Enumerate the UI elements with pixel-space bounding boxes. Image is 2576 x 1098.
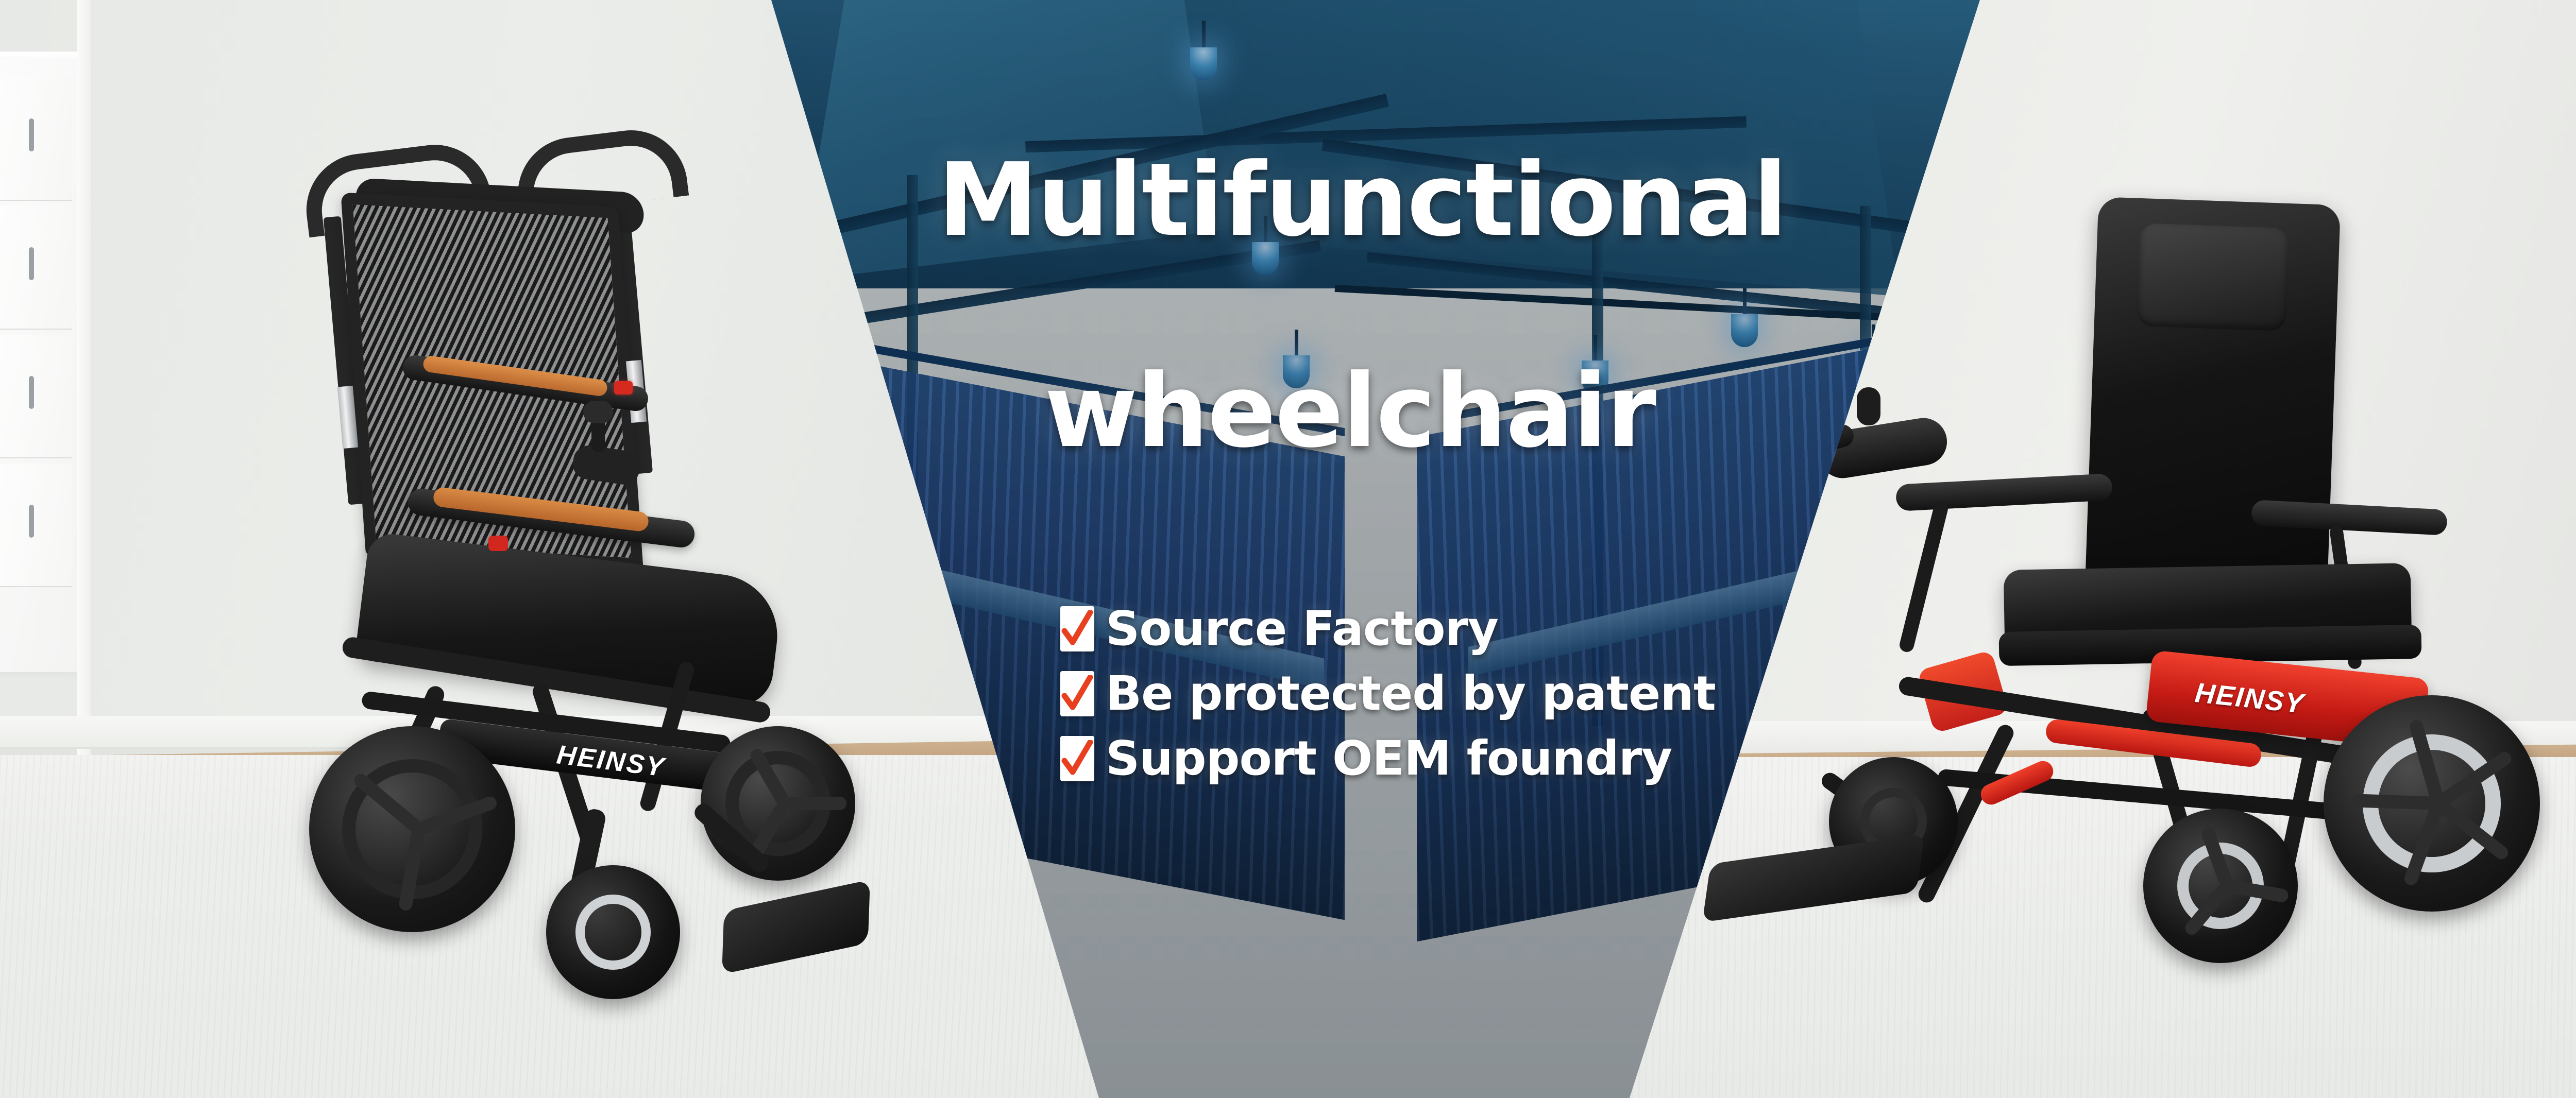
control-joystick bbox=[577, 412, 623, 474]
headline-block: Multifunctional wheelchair Source Factor… bbox=[938, 0, 1762, 1098]
drawer-handle bbox=[29, 376, 34, 409]
wheel-spoke bbox=[785, 797, 846, 810]
feature-item: Be protected by patent bbox=[1060, 670, 1745, 717]
footrest-plate bbox=[722, 880, 870, 974]
cabinet-drawer bbox=[0, 335, 72, 458]
mid-wheel bbox=[701, 726, 855, 881]
check-box-icon bbox=[1060, 736, 1094, 781]
product-banner: HEINSY bbox=[0, 0, 2576, 1098]
cabinet-edge bbox=[77, 0, 91, 762]
feature-list: Source Factory Be protected by patent bbox=[1060, 605, 1745, 800]
headrest-pad bbox=[2137, 223, 2290, 331]
wheel-hub-ring bbox=[575, 895, 651, 970]
drawer-handle bbox=[29, 247, 34, 280]
feature-item: Source Factory bbox=[1060, 605, 1745, 653]
check-box-icon bbox=[1060, 671, 1094, 716]
armrest-post-left bbox=[1898, 500, 1950, 654]
drawer-handle bbox=[29, 505, 34, 538]
red-lock-button bbox=[488, 536, 508, 551]
cabinet-drawer bbox=[0, 206, 72, 330]
joystick-knob bbox=[583, 401, 613, 423]
manual-wheelchair-left: HEINSY bbox=[268, 144, 938, 979]
feature-label: Support OEM foundry bbox=[1106, 735, 1672, 782]
cabinet-drawer bbox=[0, 77, 72, 201]
feature-label: Source Factory bbox=[1106, 605, 1498, 653]
feature-item: Support OEM foundry bbox=[1060, 735, 1745, 782]
headline-line-2: wheelchair bbox=[938, 361, 1762, 464]
rear-drive-wheel bbox=[2324, 695, 2540, 912]
drawer-handle bbox=[29, 118, 34, 151]
check-box-icon bbox=[1060, 606, 1094, 651]
cabinet-drawer bbox=[0, 464, 72, 587]
red-release-button bbox=[614, 381, 633, 394]
joystick-knob bbox=[1857, 387, 1880, 425]
rear-wheel bbox=[309, 726, 515, 932]
feature-label: Be protected by patent bbox=[1106, 670, 1716, 717]
mid-wheel bbox=[2143, 809, 2298, 963]
front-caster-wheel bbox=[546, 865, 680, 999]
headline-line-1: Multifunctional bbox=[938, 149, 1762, 252]
